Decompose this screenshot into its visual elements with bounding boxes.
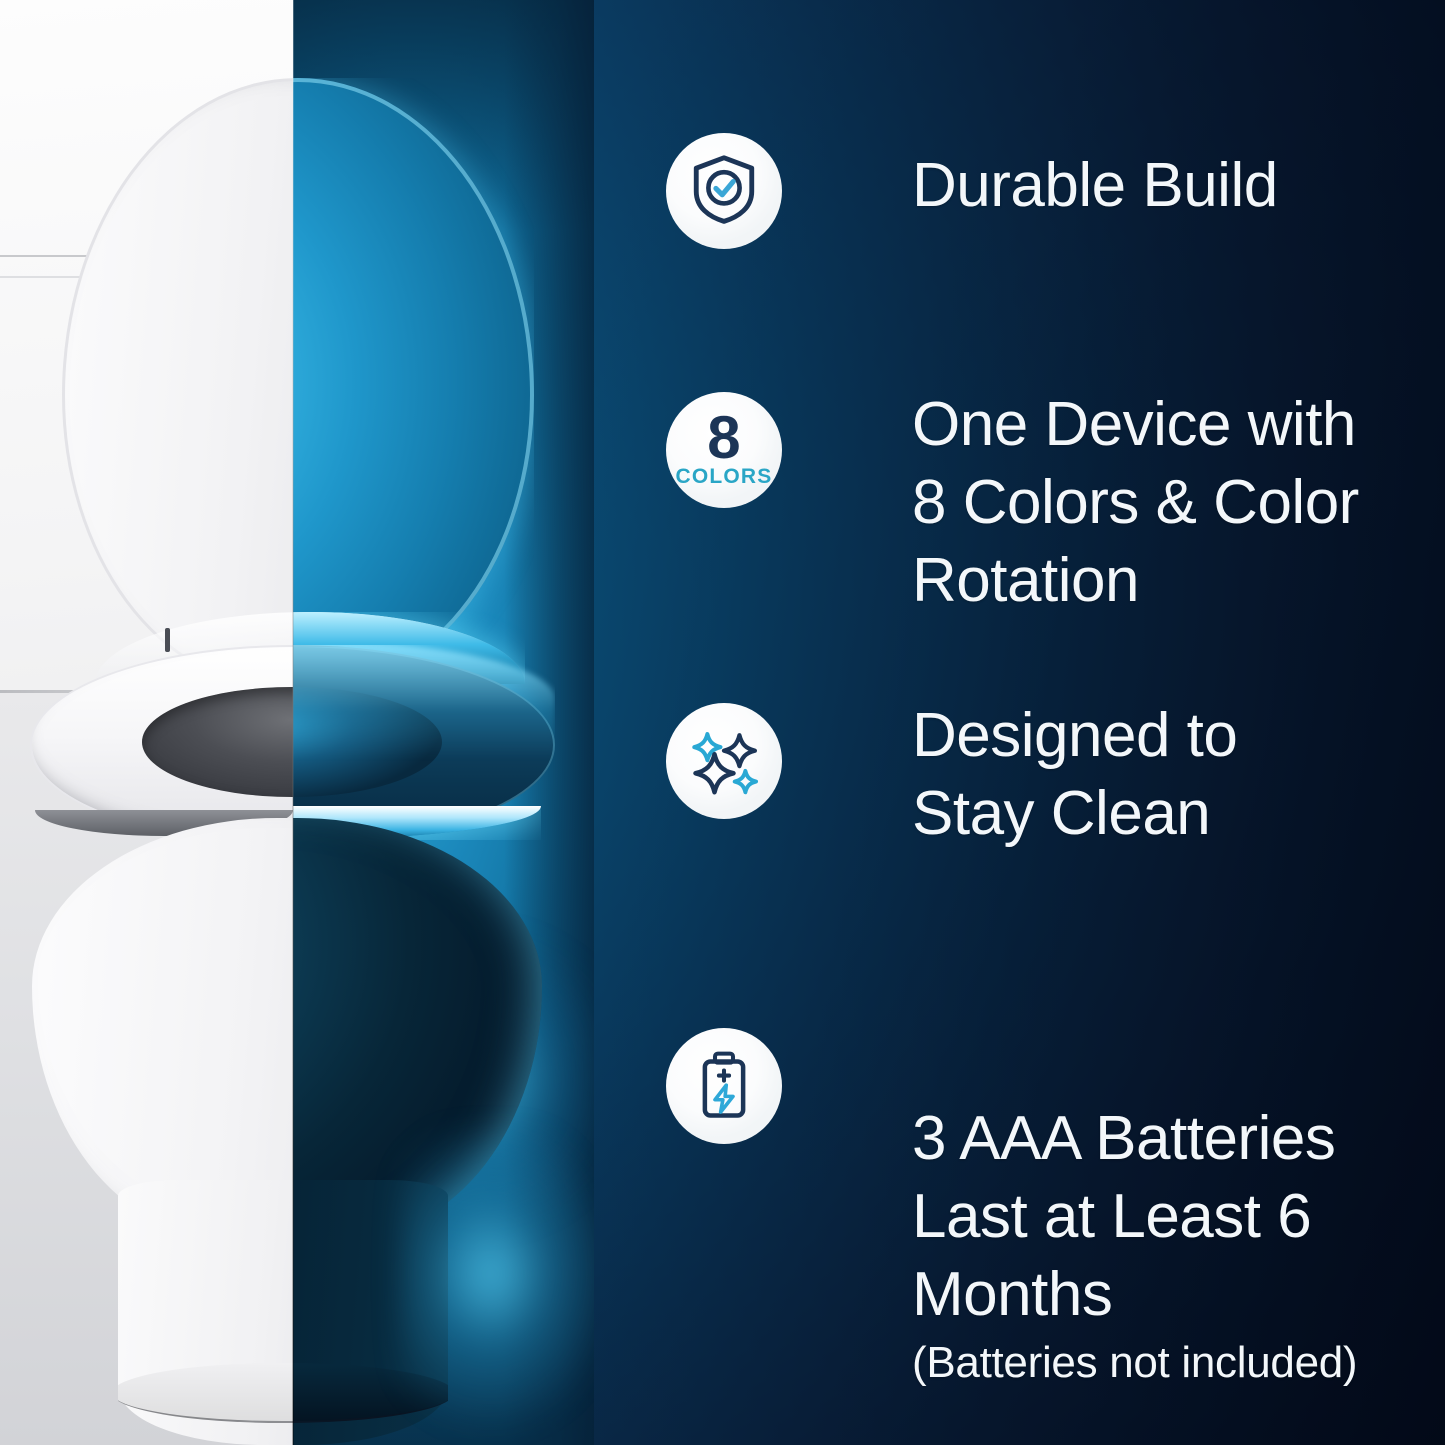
sparkles-icon xyxy=(686,721,762,802)
toilet-pedestal-lit-half xyxy=(118,1180,293,1445)
eight-colors-badge-icon: 8 COLORS xyxy=(675,392,772,508)
toilet-lid-lit-half xyxy=(62,78,293,688)
feature-item-battery-life: 3 AAA Batteries Last at Least 6 Months(B… xyxy=(666,1028,1357,1445)
toilet-lid xyxy=(62,78,534,688)
feature-icon-badge xyxy=(666,133,782,249)
led-glow-bloom-lower xyxy=(400,1130,594,1445)
shield-check-icon xyxy=(687,152,761,231)
toilet-pedestal xyxy=(118,1180,448,1445)
product-photo-toilet xyxy=(0,0,594,1445)
toilet-bowl-lit-half xyxy=(32,818,293,1238)
feature-text: Durable Build xyxy=(912,147,1278,225)
product-infographic: Durable Build 8 COLORS One Device with 8… xyxy=(0,0,1445,1445)
feature-item-stay-clean: Designed to Stay Clean xyxy=(666,703,1237,853)
feature-text: 3 AAA Batteries Last at Least 6 Months(B… xyxy=(912,1022,1357,1445)
eight-colors-caption: COLORS xyxy=(675,466,772,488)
battery-bolt-icon xyxy=(688,1048,760,1125)
feature-icon-badge: 8 COLORS xyxy=(666,392,782,508)
feature-item-eight-colors: 8 COLORS One Device with 8 Colors & Colo… xyxy=(666,392,1359,620)
feature-icon-badge xyxy=(666,1028,782,1144)
feature-text-main: 3 AAA Batteries Last at Least 6 Months xyxy=(912,1104,1335,1329)
toilet-lid-glow-half xyxy=(293,78,534,688)
feature-list: Durable Build 8 COLORS One Device with 8… xyxy=(594,0,1445,1445)
feature-subnote: (Batteries not included) xyxy=(912,1334,1357,1392)
eight-colors-number: 8 xyxy=(707,412,740,464)
feature-text: Designed to Stay Clean xyxy=(912,697,1237,853)
feature-icon-badge xyxy=(666,703,782,819)
feature-text: One Device with 8 Colors & Color Rotatio… xyxy=(912,386,1359,620)
feature-item-durable-build: Durable Build xyxy=(666,133,1278,249)
photo-split-seam xyxy=(292,0,294,1445)
